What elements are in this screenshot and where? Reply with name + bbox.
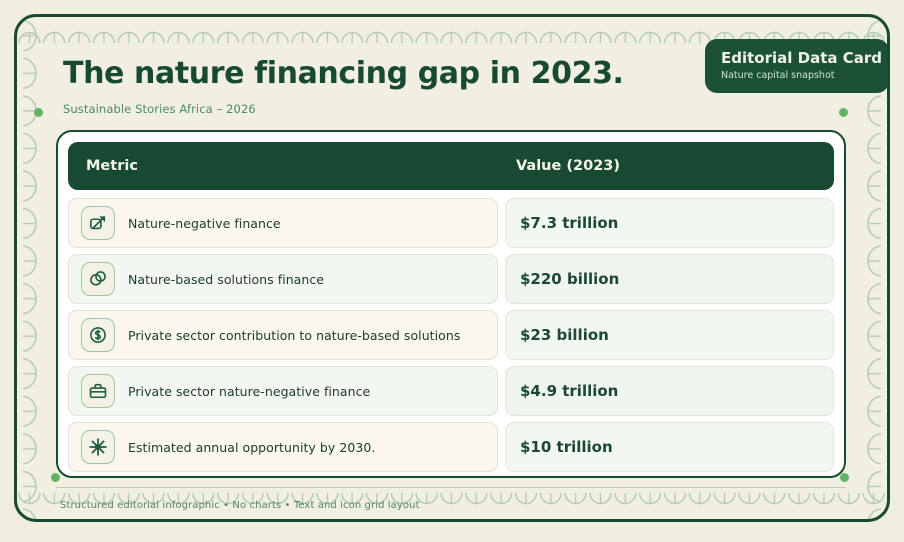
metric-label: Nature-based solutions finance [128,272,324,287]
metric-label: Estimated annual opportunity by 2030. [128,440,375,455]
infographic-canvas: The nature financing gap in 2023. Sustai… [0,0,904,542]
value-cell: $7.3 trillion [505,198,834,248]
page-subtitle: Sustainable Stories Africa – 2026 [63,102,861,116]
value-cell: $10 trillion [505,422,834,472]
badge-title: Editorial Data Card [721,50,873,67]
metric-label: Private sector nature-negative finance [128,384,370,399]
table-row: Estimated annual opportunity by 2030. $1… [68,422,834,472]
value-label: $23 billion [520,326,609,344]
footer-note: Structured editorial infographic • No ch… [60,500,420,511]
table-row: Private sector contribution to nature-ba… [68,310,834,360]
value-label: $10 trillion [520,438,613,456]
briefcase-icon [81,374,115,408]
editorial-badge: Editorial Data Card Nature capital snaps… [705,39,889,93]
accent-dot-card-bottom-right [840,473,849,482]
metric-cell: Estimated annual opportunity by 2030. [68,422,498,472]
dollar-coin-icon [81,318,115,352]
accent-dot-card-bottom-left [51,473,60,482]
value-label: $220 billion [520,270,619,288]
metric-label: Private sector contribution to nature-ba… [128,328,460,343]
metrics-card: Metric Value (2023) Nature-negative fina… [56,130,846,478]
footer-divider [56,487,846,488]
metric-label: Nature-negative finance [128,216,281,231]
value-label: $7.3 trillion [520,214,618,232]
metric-cell: Private sector nature-negative finance [68,366,498,416]
table-row: Nature-based solutions finance $220 bill… [68,254,834,304]
metric-cell: Nature-based solutions finance [68,254,498,304]
table-row: Private sector nature-negative finance $… [68,366,834,416]
trending-arrow-icon [81,206,115,240]
column-header-metric: Metric [86,158,516,174]
table-header-row: Metric Value (2023) [68,142,834,190]
starburst-icon [81,430,115,464]
accent-dot-left [34,108,43,117]
table-row: Nature-negative finance $7.3 trillion [68,198,834,248]
arc-pattern-left [17,17,43,519]
metric-cell: Nature-negative finance [68,198,498,248]
badge-subtitle: Nature capital snapshot [721,70,873,81]
value-cell: $23 billion [505,310,834,360]
value-cell: $4.9 trillion [505,366,834,416]
value-label: $4.9 trillion [520,382,618,400]
overlapping-circles-icon [81,262,115,296]
metrics-rows: Nature-negative finance $7.3 trillion Na… [68,198,834,472]
accent-dot-right [839,108,848,117]
metric-cell: Private sector contribution to nature-ba… [68,310,498,360]
value-cell: $220 billion [505,254,834,304]
column-header-value: Value (2023) [516,158,816,174]
